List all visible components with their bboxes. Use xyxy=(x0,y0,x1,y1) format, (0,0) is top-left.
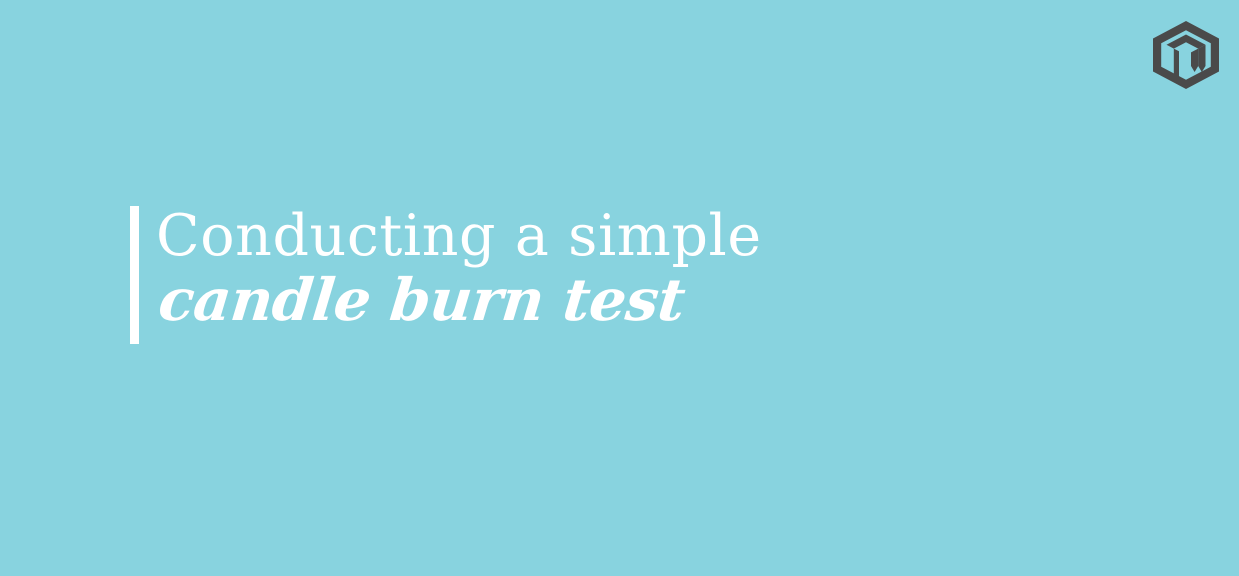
headline-script: candle burn test xyxy=(156,271,768,329)
cube-package-ribbon-icon xyxy=(1153,21,1219,89)
hero-text-block: Conducting a simple candle burn test xyxy=(130,206,762,344)
vertical-accent-bar xyxy=(130,206,139,344)
headline-primary: Conducting a simple xyxy=(156,206,762,265)
banner-canvas: Conducting a simple candle burn test xyxy=(0,0,1239,576)
headline-group: Conducting a simple candle burn test xyxy=(156,206,762,344)
brand-logo xyxy=(1153,21,1219,89)
